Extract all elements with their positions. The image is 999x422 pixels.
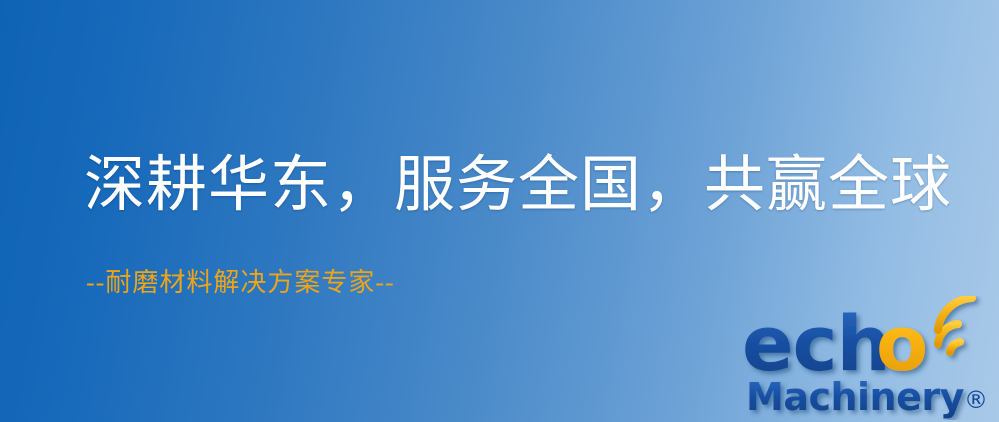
hero-banner: 深耕华东，服务全国，共赢全球 --耐磨材料解决方案专家-- bbox=[0, 0, 999, 422]
page-subtitle: --耐磨材料解决方案专家-- bbox=[86, 266, 395, 300]
registered-trademark-icon: ® bbox=[964, 386, 988, 414]
company-logo[interactable]: ech o Machinery ® bbox=[742, 296, 994, 420]
wifi-arcs-icon bbox=[938, 298, 972, 352]
page-title: 深耕华东，服务全国，共赢全球 bbox=[84, 150, 952, 222]
logo-tagline: Machinery bbox=[746, 375, 965, 419]
